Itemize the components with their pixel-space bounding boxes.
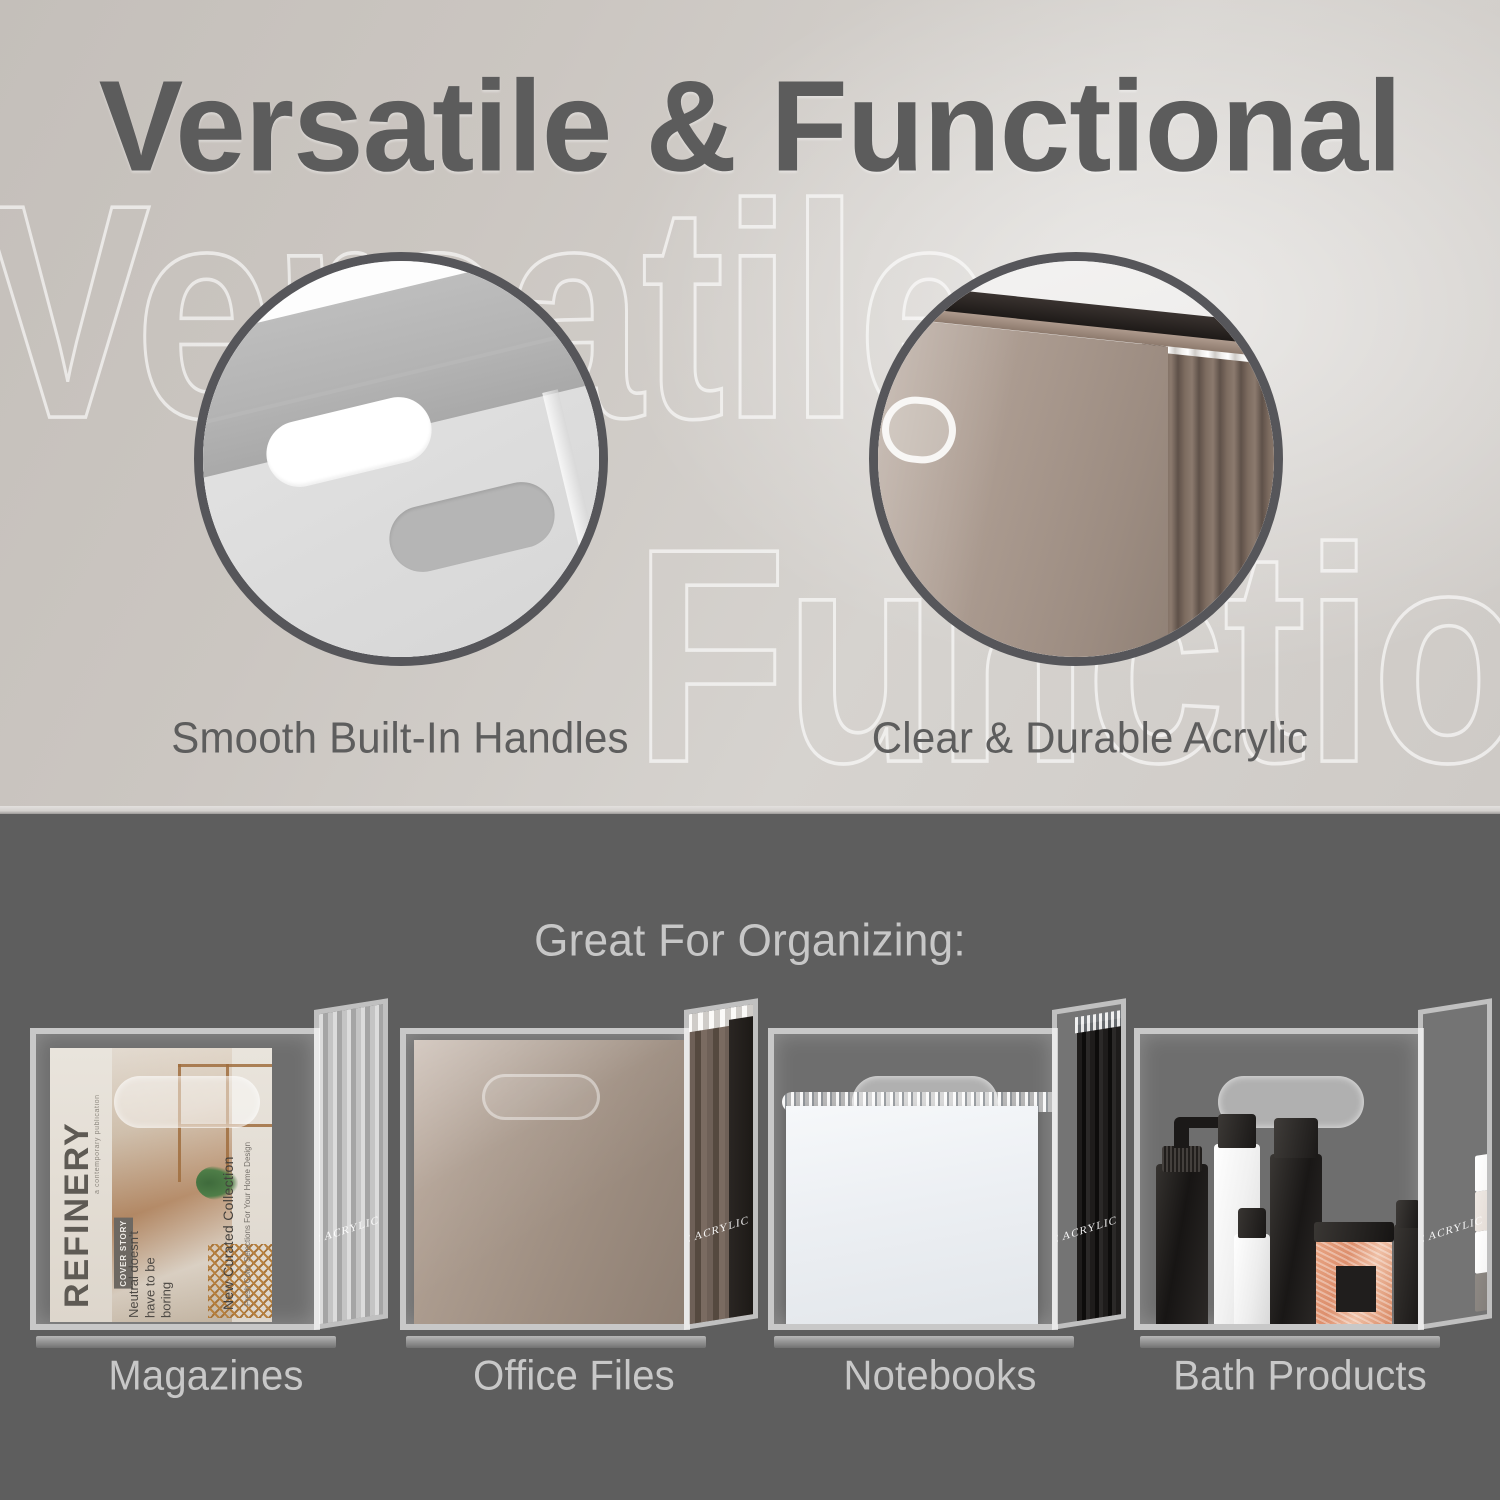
bin-label-office-files: Office Files	[394, 1353, 754, 1400]
magazine-deck: Fresh Color Selections For Your Home Des…	[243, 1128, 254, 1306]
travel-bottle-white	[1234, 1234, 1270, 1330]
acrylic-edge-closeup-photo	[878, 261, 1274, 657]
shampoo-bottle-black	[1270, 1154, 1322, 1330]
bath-salts-jar-lid	[1314, 1222, 1394, 1242]
magazine-masthead: REFINERY	[58, 1064, 97, 1308]
pump-bottle-black	[1156, 1164, 1208, 1330]
use-case-bins-row: CLASSIC ACRYLIC REFINERY a contemporary …	[0, 1010, 1500, 1360]
bath-salts-jar-label	[1336, 1266, 1376, 1312]
bath-product-group	[1150, 1034, 1424, 1330]
bin-handle-closeup-photo	[203, 261, 599, 657]
magazine-headline: New Curated Collection	[220, 1110, 236, 1310]
file-folder-handle-icon	[482, 1074, 600, 1120]
folder-pleats	[1164, 339, 1283, 666]
magazine-right-column: New Curated Collection Fresh Color Selec…	[214, 1110, 266, 1316]
mist-bottle-black-cap	[1396, 1200, 1420, 1228]
mist-bottle-black	[1394, 1224, 1422, 1330]
bin-label-bath-products: Bath Products	[1120, 1353, 1480, 1400]
lotion-bottle-white-cap	[1218, 1114, 1256, 1148]
brand-mark: CLASSIC ACRYLIC	[1418, 1214, 1483, 1261]
bin-side-panel: CLASSIC ACRYLIC	[1052, 998, 1126, 1330]
folder-sheen	[869, 315, 1168, 666]
bin-side-panel: CLASSIC ACRYLIC	[684, 998, 758, 1330]
magazine-cover-story-text: Neutral doesn't have to be boring	[126, 1218, 175, 1318]
bin-side-panel: CLASSIC ACRYLIC	[1418, 998, 1492, 1330]
bin-side-panel: CLASSIC ACRYLIC	[314, 998, 388, 1330]
features-section: Versatile Function Versatile & Functiona…	[0, 0, 1500, 814]
bin-label-magazines: Magazines	[26, 1353, 386, 1400]
feature-caption-handles: Smooth Built-In Handles	[100, 713, 700, 763]
shampoo-bottle-black-cap	[1274, 1118, 1318, 1158]
bin-foot	[36, 1336, 336, 1348]
travel-bottle-white-cap	[1238, 1208, 1266, 1238]
infographic-page: Versatile Function Versatile & Functiona…	[0, 0, 1500, 1500]
magazine-stack	[319, 1002, 388, 1330]
feature-caption-acrylic: Clear & Durable Acrylic	[790, 713, 1390, 763]
notebook-stack-black	[1077, 1017, 1126, 1323]
notebook-cover	[786, 1106, 1038, 1330]
section-divider	[0, 806, 1500, 814]
bin-front-panel	[1134, 1028, 1424, 1330]
page-title: Versatile & Functional	[0, 52, 1500, 200]
jar-top	[1475, 1148, 1492, 1192]
bin-front-panel	[768, 1028, 1058, 1330]
feature-image-acrylic	[869, 252, 1283, 666]
file-folder-dark-edge	[729, 1014, 758, 1318]
bin-front-panel	[400, 1028, 690, 1330]
bin-foot	[1140, 1336, 1440, 1348]
magazine-masthead-sub: a contemporary publication	[94, 1074, 101, 1194]
bin-foot	[406, 1336, 706, 1348]
bin-front-panel: REFINERY a contemporary publication COVE…	[30, 1028, 320, 1330]
pump-collar	[1162, 1146, 1202, 1172]
bin-foot	[774, 1336, 1074, 1348]
bin-bath-products: CLASSIC ACRYLIC	[1134, 1010, 1486, 1340]
bin-notebooks: CLASSIC ACRYLIC	[768, 1010, 1120, 1340]
bin-office-files: CLASSIC ACRYLIC	[400, 1010, 752, 1340]
handle-cutout-icon	[114, 1076, 260, 1128]
bin-magazines: CLASSIC ACRYLIC REFINERY a contemporary …	[30, 1010, 382, 1340]
use-cases-heading: Great For Organizing:	[0, 915, 1500, 967]
stacked-jars	[1475, 1148, 1492, 1312]
bin-label-notebooks: Notebooks	[760, 1353, 1120, 1400]
use-cases-section: Great For Organizing: CLASSIC ACRYLIC	[0, 814, 1500, 1500]
feature-image-handles	[194, 252, 608, 666]
